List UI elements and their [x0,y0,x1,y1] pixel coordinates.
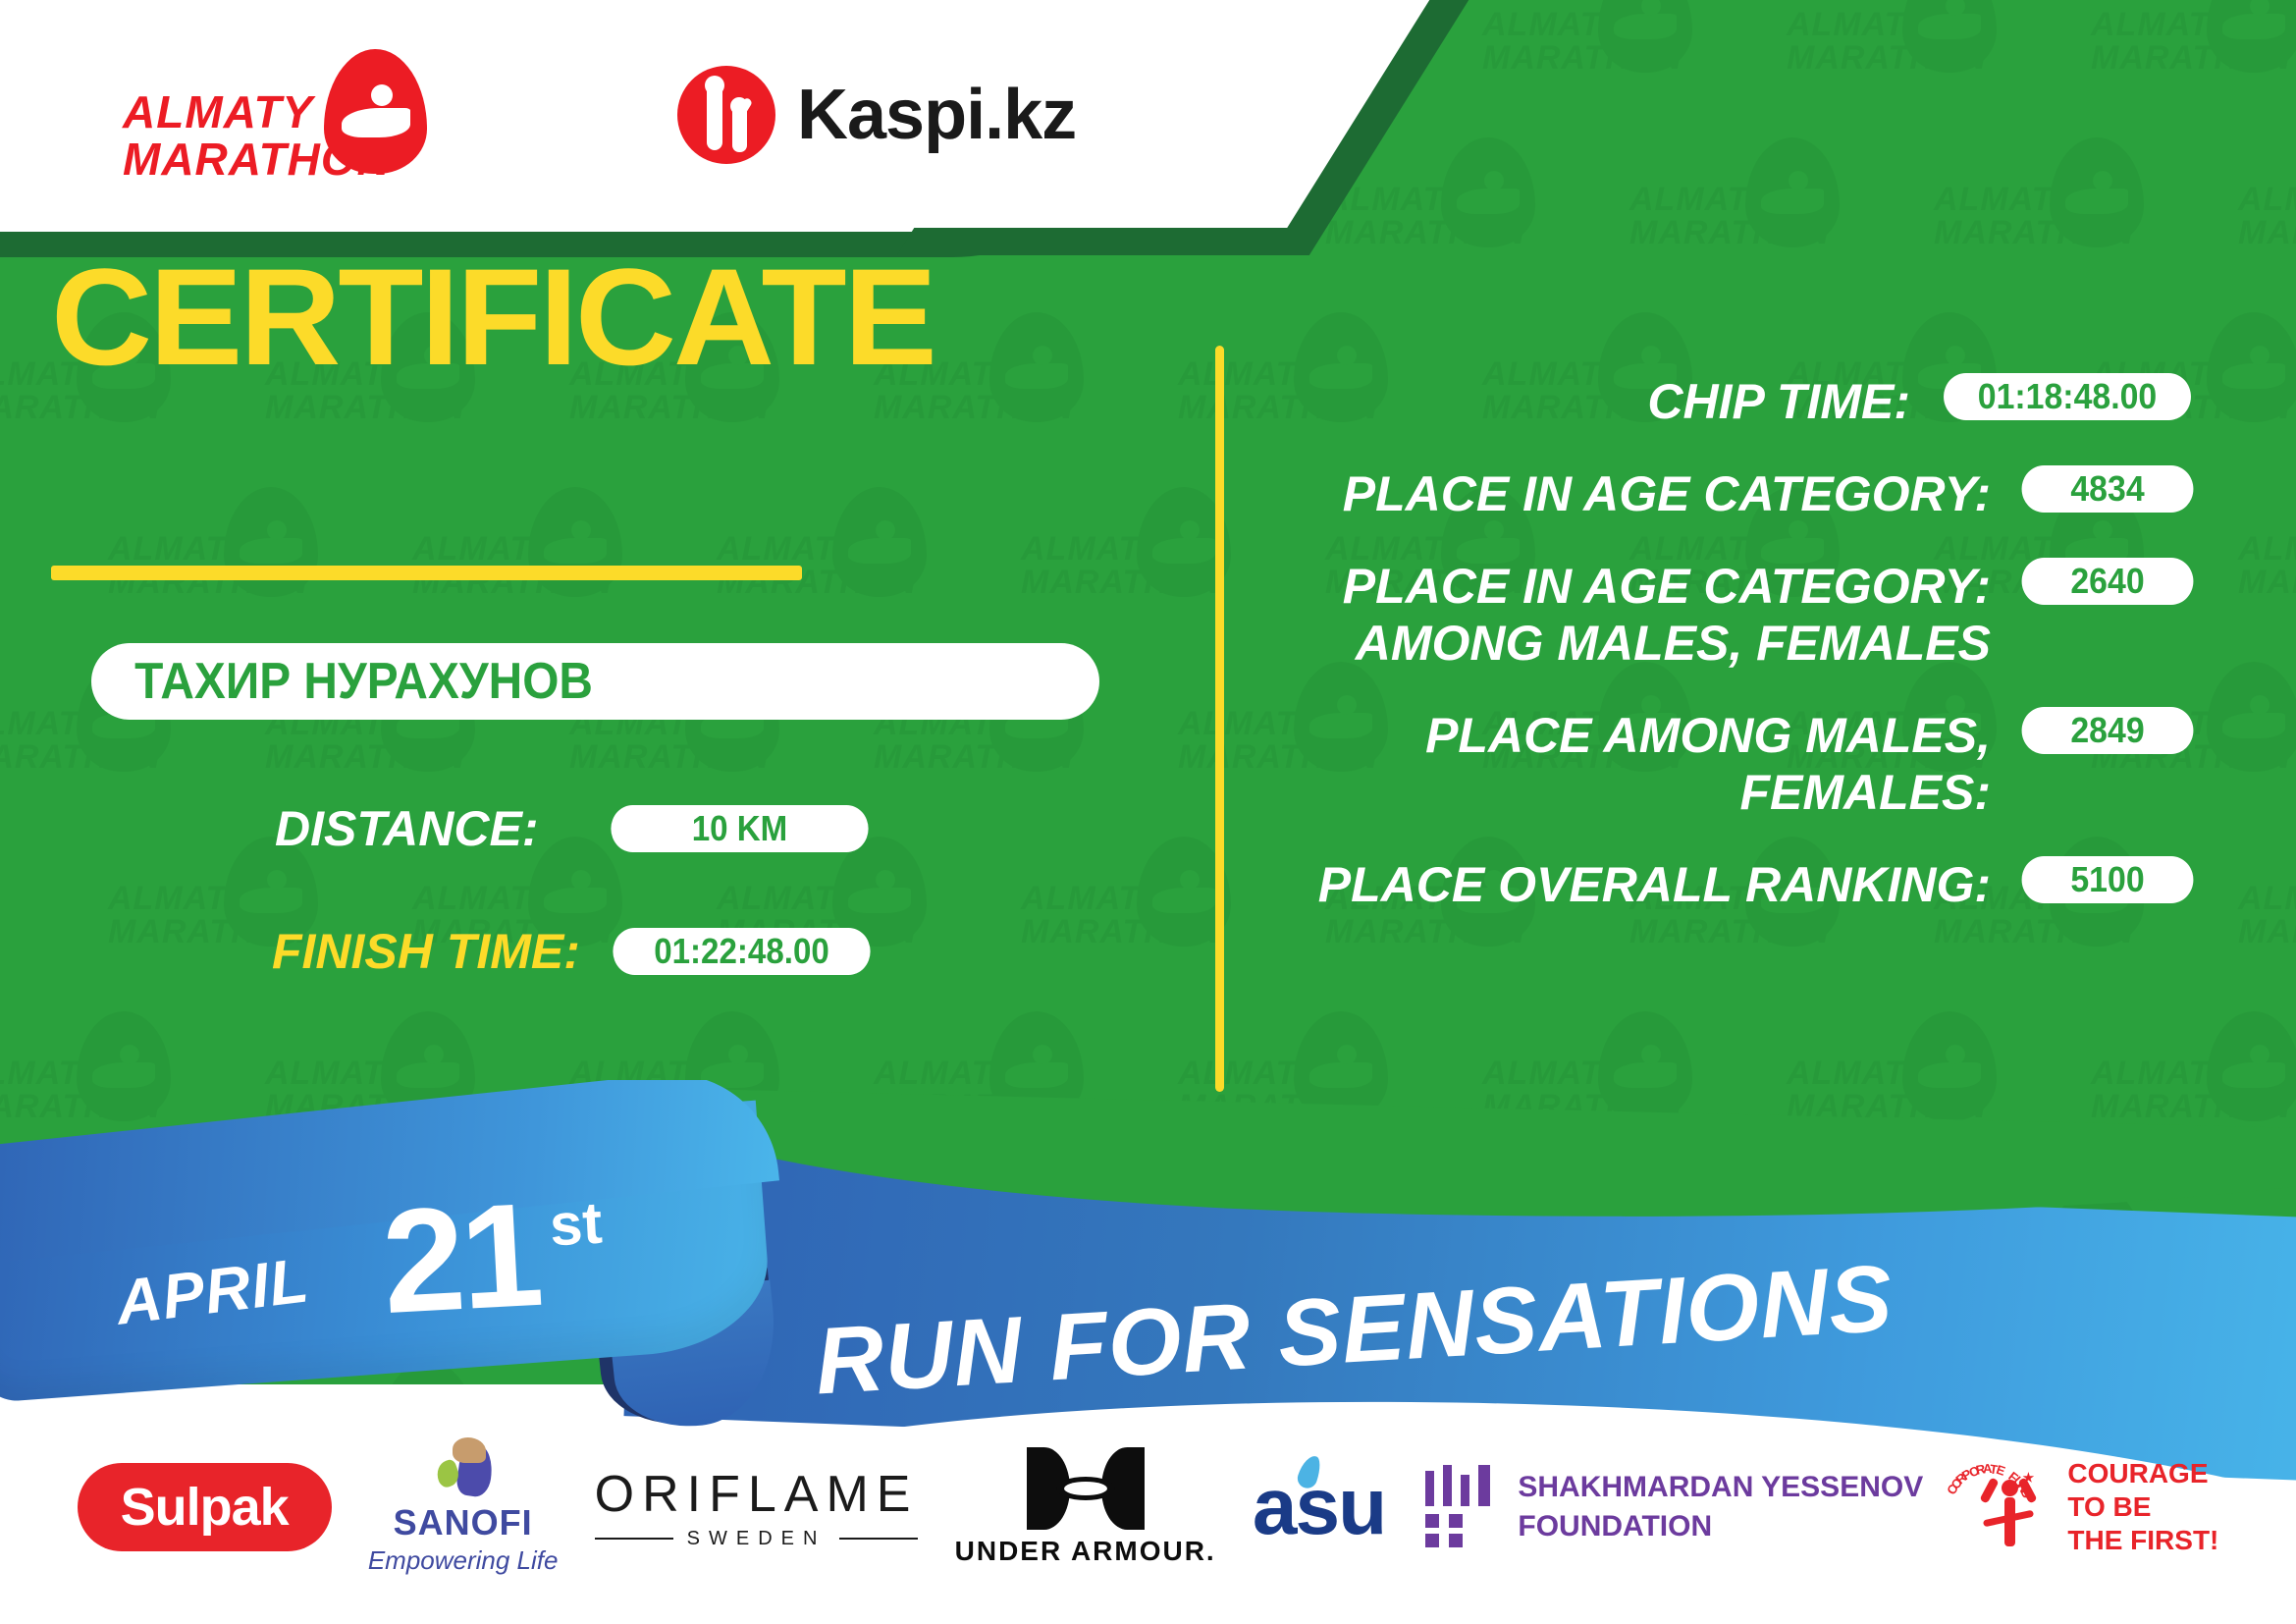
stat-label: PLACE OVERALL RANKING: [1276,856,2016,913]
vertical-divider [1215,346,1224,1092]
watermark-text: ALMATY MARATHON [2238,882,2296,948]
watermark-tile: ALMATY MARATHON [108,1184,402,1351]
kaspi-logo[interactable]: Kaspi.kz [677,61,1076,169]
watermark-tile: ALMATY MARATHON [2238,1184,2296,1351]
sponsor-sanofi[interactable]: SANOFI Empowering Life [368,1439,559,1576]
watermark-tile: ALMATY MARATHON [0,1359,255,1384]
watermark-tile: ALMATY MARATHON [0,1009,255,1176]
almaty-marathon-runner-icon [324,49,427,174]
stat-row: PLACE IN AGE CATEGORY:4834 [1276,465,2199,522]
watermark-runner-icon [2207,1361,2296,1384]
watermark-tile: ALMATY MARATHON [1787,1009,2081,1176]
watermark-tile: ALMATY MARATHON [717,1184,1011,1351]
courage-fund-figure-icon [1987,1472,2030,1548]
distance-label: DISTANCE: [275,800,539,857]
watermark-runner-icon [1294,1011,1388,1121]
sponsor-courage-label: COURAGE TO BE THE FIRST! [2067,1457,2218,1557]
watermark-text: ALMATY MARATHON [2238,532,2296,599]
watermark-runner-icon [1598,1361,1692,1384]
under-armour-icon [1027,1447,1145,1530]
watermark-runner-icon [2050,137,2144,247]
yessenov-bars-icon [1421,1465,1496,1549]
watermark-runner-icon [2050,1186,2144,1296]
watermark-runner-icon [528,487,622,597]
finish-time-value: 01:22:48.00 [613,928,870,975]
stat-value: 2849 [2022,707,2194,754]
stat-value: 4834 [2022,465,2194,513]
watermark-tile: ALMATY MARATHON [1629,1184,1924,1351]
watermark-tile: ALMATY MARATHON [265,1359,560,1384]
watermark-runner-icon [1441,137,1535,247]
page-title: CERTIFICATE [51,248,934,386]
stat-value: 5100 [2022,856,2194,903]
certificate-page: ALMATY MARATHONALMATY MARATHONALMATY MAR… [0,0,2296,1624]
watermark-tile: ALMATY MARATHON [569,1009,864,1176]
stat-label: PLACE IN AGE CATEGORY: [1276,465,2016,522]
watermark-runner-icon [989,312,1084,422]
sponsor-under-armour[interactable]: UNDER ARMOUR. [955,1447,1216,1567]
watermark-tile: ALMATY MARATHON [1325,135,1620,302]
sponsor-sanofi-label: SANOFI [394,1502,533,1543]
kaspi-people-icon [677,66,775,164]
watermark-runner-icon [1745,137,1840,247]
watermark-runner-icon [989,1011,1084,1121]
sponsor-under-armour-label: UNDER ARMOUR. [955,1536,1216,1567]
sponsor-courage-fund[interactable]: CORPORATE FUND COURAGE TO BE THE FIRST! [1959,1457,2218,1557]
results-stats-list: CHIP TIME:01:18:48.00PLACE IN AGE CATEGO… [1276,373,2199,948]
watermark-runner-icon [77,1361,171,1384]
watermark-tile: ALMATY MARATHON [1934,1184,2228,1351]
stat-label: PLACE AMONG MALES, FEMALES: [1276,707,2016,821]
watermark-runner-icon [2207,1011,2296,1121]
watermark-runner-icon [1294,1361,1388,1384]
watermark-runner-icon [1598,1011,1692,1121]
watermark-tile: ALMATY MARATHON [412,1184,707,1351]
sanofi-bird-icon [431,1439,496,1500]
stat-value: 2640 [2022,558,2194,605]
watermark-tile: ALMATY MARATHON [1482,1359,1777,1384]
watermark-runner-icon [832,487,927,597]
watermark-tile: ALMATY MARATHON [1629,135,1924,302]
watermark-tile: ALMATY MARATHON [1178,1359,1472,1384]
watermark-tile: ALMATY MARATHON [1021,485,1315,652]
almaty-marathon-logo[interactable]: ALMATY MARATHON [123,51,447,179]
watermark-tile: ALMATY MARATHON [2238,485,2296,652]
watermark-runner-icon [832,1186,927,1296]
sponsor-logo-strip: Sulpak SANOFI Empowering Life ORIFLAME S… [0,1429,2296,1586]
watermark-tile: ALMATY MARATHON [2091,0,2296,128]
watermark-runner-icon [381,1361,475,1384]
watermark-tile: ALMATY MARATHON [1787,0,2081,128]
finish-time-label: FINISH TIME: [272,923,580,980]
participant-name-field: ТАХИР НУРАХУНОВ [91,643,1099,720]
watermark-text: ALMATY MARATHON [2238,183,2296,249]
sponsor-sulpak[interactable]: Sulpak [78,1463,332,1551]
watermark-runner-icon [685,1011,779,1121]
sponsor-yessenov-label: SHAKHMARDAN YESSENOV FOUNDATION [1518,1468,1923,1546]
distance-row: DISTANCE: 10 KM [275,800,880,857]
sponsor-yessenov-foundation[interactable]: SHAKHMARDAN YESSENOV FOUNDATION [1421,1465,1923,1549]
watermark-tile: ALMATY MARATHON [2091,1009,2296,1176]
sponsor-oriflame-label: ORIFLAME [595,1465,919,1524]
stat-row: PLACE IN AGE CATEGORY: AMONG MALES, FEMA… [1276,558,2199,672]
watermark-tile: ALMATY MARATHON [1325,1184,1620,1351]
finish-time-row: FINISH TIME: 01:22:48.00 [272,923,881,980]
watermark-tile: ALMATY MARATHON [569,1359,864,1384]
watermark-tile: ALMATY MARATHON [1021,1184,1315,1351]
watermark-runner-icon [989,1361,1084,1384]
title-underline [51,566,802,580]
watermark-tile: ALMATY MARATHON [1787,1359,2081,1384]
watermark-runner-icon [1441,1186,1535,1296]
watermark-tile: ALMATY MARATHON [1021,835,1315,1001]
watermark-runner-icon [685,1361,779,1384]
stat-value: 01:18:48.00 [1944,373,2191,420]
watermark-runner-icon [224,1186,318,1296]
watermark-tile: ALMATY MARATHON [1482,0,1777,128]
stat-row: PLACE AMONG MALES, FEMALES:2849 [1276,707,2199,821]
sponsor-oriflame[interactable]: ORIFLAME SWEDEN [595,1465,919,1550]
courage-fund-icon: CORPORATE FUND [1959,1458,2054,1556]
watermark-tile: ALMATY MARATHON [265,1009,560,1176]
sponsor-asu-label: asu [1253,1461,1385,1553]
stat-row: PLACE OVERALL RANKING:5100 [1276,856,2199,913]
watermark-tile: ALMATY MARATHON [2238,135,2296,302]
watermark-tile: ALMATY MARATHON [874,1359,1168,1384]
watermark-tile: ALMATY MARATHON [1934,135,2228,302]
watermark-tile: ALMATY MARATHON [874,1009,1168,1176]
watermark-runner-icon [2207,312,2296,422]
kaspi-logo-text: Kaspi.kz [797,75,1076,155]
watermark-runner-icon [1902,1011,1997,1121]
stat-row: CHIP TIME:01:18:48.00 [1276,373,2199,430]
stat-label: CHIP TIME: [1276,373,1936,430]
watermark-tile: ALMATY MARATHON [1482,1009,1777,1176]
watermark-runner-icon [1745,1186,1840,1296]
participant-name: ТАХИР НУРАХУНОВ [91,652,593,711]
watermark-runner-icon [2207,662,2296,772]
watermark-runner-icon [1137,1186,1231,1296]
watermark-text: ALMATY MARATHON [2238,1231,2296,1298]
stat-label: PLACE IN AGE CATEGORY: AMONG MALES, FEMA… [1276,558,2016,672]
watermark-runner-icon [381,1011,475,1121]
distance-value: 10 KM [611,805,868,852]
watermark-runner-icon [1902,1361,1997,1384]
sponsor-sanofi-tagline: Empowering Life [368,1545,559,1576]
sponsor-asu[interactable]: asu [1253,1461,1385,1553]
sponsor-oriflame-sub: SWEDEN [595,1528,919,1550]
watermark-tile: ALMATY MARATHON [2238,835,2296,1001]
sponsor-sulpak-label: Sulpak [121,1477,289,1538]
watermark-runner-icon [224,487,318,597]
watermark-runner-icon [77,1011,171,1121]
watermark-tile: ALMATY MARATHON [2091,1359,2296,1384]
watermark-runner-icon [528,1186,622,1296]
